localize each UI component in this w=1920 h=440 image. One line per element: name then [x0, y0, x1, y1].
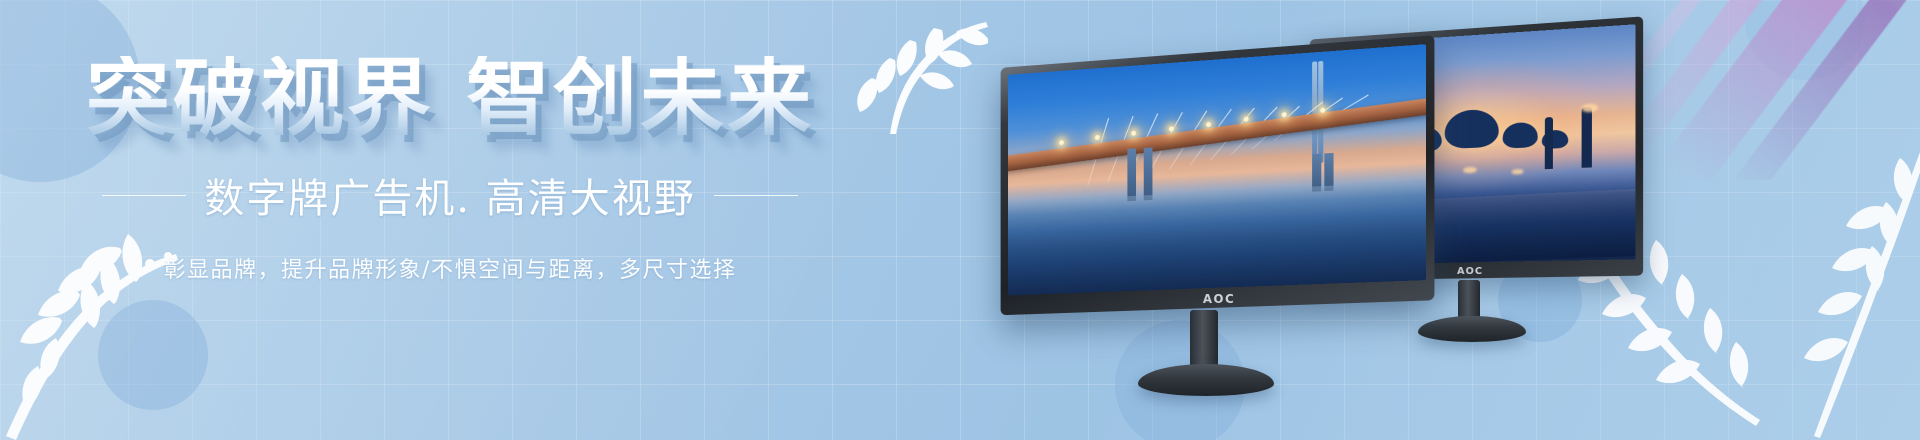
subtitle-row: 数字牌广告机. 高清大视野 [0, 166, 900, 224]
divider-right [714, 195, 798, 196]
front-monitor-stand-base [1138, 364, 1274, 396]
promo-banner: 突破视界 智创未来 数字牌广告机. 高清大视野 彰显品牌，提升品牌形象/不惧空间… [0, 0, 1920, 440]
product-display-group: AOC [1030, 0, 1920, 440]
subtitle: 数字牌广告机. 高清大视野 [204, 166, 695, 224]
tagline: 彰显品牌，提升品牌形象/不惧空间与距离，多尺寸选择 [0, 252, 900, 284]
bridge-deck [1008, 97, 1426, 174]
back-monitor-stand-base [1418, 316, 1526, 342]
aoc-logo-back: AOC [1457, 266, 1483, 277]
front-monitor: AOC [990, 52, 1430, 308]
aoc-logo-front: AOC [1203, 292, 1235, 306]
headline-text-block: 突破视界 智创未来 数字牌广告机. 高清大视野 彰显品牌，提升品牌形象/不惧空间… [0, 56, 900, 284]
page-title: 突破视界 智创未来 [0, 56, 900, 140]
front-monitor-screen [1008, 44, 1426, 295]
front-monitor-stand-neck [1190, 310, 1218, 372]
divider-left [102, 195, 186, 196]
